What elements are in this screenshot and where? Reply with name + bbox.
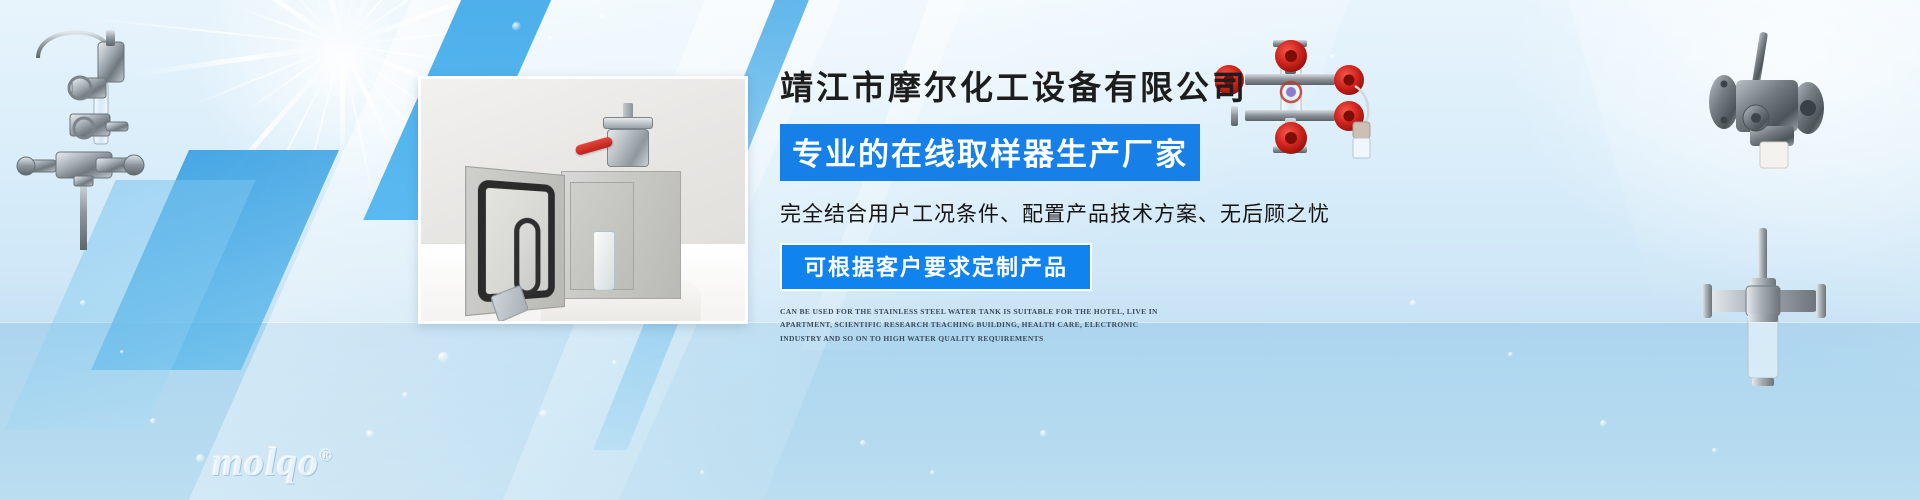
photo-cabinet-door [465,166,565,316]
sun-ray [340,44,397,154]
sun-ray [204,0,344,47]
english-description: CAN BE USED FOR THE STAINLESS STEEL WATE… [780,305,1180,347]
sub-headline: 完全结合用户工况条件、配置产品技术方案、无后顾之忧 [780,198,1420,228]
sun-ray [340,0,478,46]
right-bottom-valve-image [1690,228,1840,408]
sun-ray [341,17,595,46]
water-droplet-icon [548,36,553,41]
photo-valve-body [607,129,649,167]
sun-ray [220,0,341,45]
photo-cabinet-interior [570,182,634,290]
sun-ray [300,45,342,206]
sun-ray [340,45,376,207]
brand-watermark: molqo® [212,438,333,485]
sun-ray [200,0,342,46]
sun-ray [245,45,342,233]
sun-ray [340,0,393,45]
sun-ray [341,44,460,63]
sun-ray [173,43,344,239]
sun-ray [188,44,342,108]
photo-valve-flange [603,117,653,129]
sun-ray [311,0,345,46]
water-droplet-icon [512,22,521,31]
left-equipment-image [10,18,170,258]
banner-copy: 靖江市摩尔化工设备有限公司 专业的在线取样器生产厂家 完全结合用户工况条件、配置… [780,70,1420,346]
sun-ray [228,3,341,46]
photo-door-gasket [478,179,555,302]
product-photo-scene [421,79,745,321]
marketing-banner: 靖江市摩尔化工设备有限公司 专业的在线取样器生产厂家 完全结合用户工况条件、配置… [0,0,1920,500]
sun-ray [340,45,345,165]
photo-sample-bottle [593,231,615,291]
sun-ray [340,0,342,45]
sun-ray [342,0,541,47]
photo-cabinet-body [561,171,681,299]
watermark-text: molqo [212,439,319,484]
water-droplet-icon [80,300,86,306]
product-photo [418,76,748,324]
company-name: 靖江市摩尔化工设备有限公司 [780,70,1420,110]
sun-ray [340,0,464,46]
custom-product-cta[interactable]: 可根据客户要求定制产品 [780,243,1092,291]
right-lever-valve-image [1700,30,1830,175]
headline-badge: 专业的在线取样器生产厂家 [780,124,1200,181]
handwheel [1275,40,1307,72]
registered-mark-icon: ® [319,446,333,465]
photo-valve-head [597,107,659,175]
sun-ray [242,44,341,114]
water-droplet-icon [600,14,606,20]
sun-ray [340,0,422,46]
